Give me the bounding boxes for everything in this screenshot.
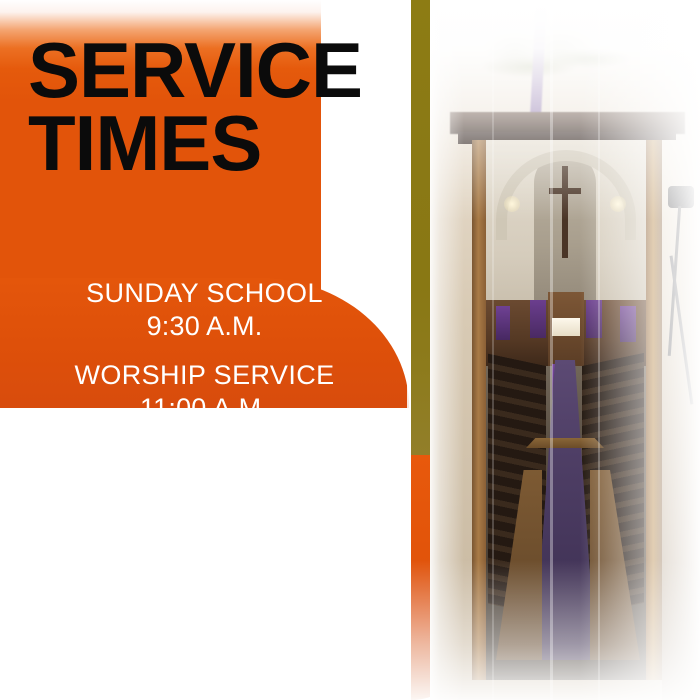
open-bible — [552, 318, 580, 336]
photo-right-wall — [662, 140, 700, 700]
service-detail: (Every 5th Sunday) — [0, 557, 409, 589]
door-header-beam — [450, 112, 685, 134]
cross-icon — [562, 166, 568, 258]
service-entry-sunday-school: SUNDAY SCHOOL 9:30 A.M. — [0, 278, 409, 342]
page-title: SERVICE TIMES — [28, 34, 408, 181]
headline-line-1: SERVICE — [28, 34, 408, 107]
video-camera — [668, 186, 694, 208]
church-sanctuary-photo — [430, 0, 700, 700]
service-time: 2nd Sunday — [0, 474, 409, 506]
cross-icon-crossbar — [549, 188, 581, 194]
service-entry-holy-communion: HOLY COMMUNION 2nd Sunday — [0, 443, 409, 507]
service-name: SUNDAY SCHOOL — [0, 278, 409, 310]
olive-accent-bar — [411, 0, 430, 458]
service-time: 10:00 A.M. — [0, 589, 409, 621]
service-entry-worship-service: WORSHIP SERVICE 11:00 A.M. — [0, 360, 409, 424]
purple-parament-right-outer — [620, 306, 636, 342]
glass-reflection-3 — [598, 0, 600, 700]
door-jamb-right — [646, 140, 662, 680]
service-name: CASUAL SUNDAY — [0, 525, 409, 557]
service-times-list: SUNDAY SCHOOL 9:30 A.M. WORSHIP SERVICE … — [0, 278, 409, 621]
glass-reflection-2 — [550, 0, 553, 700]
wall-sconce-left — [504, 196, 520, 212]
service-name: WORSHIP SERVICE — [0, 360, 409, 392]
glass-reflection-1 — [492, 0, 494, 700]
service-times-poster: SERVICE TIMES SUNDAY SCHOOL 9:30 A.M. WO… — [0, 0, 700, 700]
headline-line-2: TIMES — [28, 107, 408, 180]
service-name: HOLY COMMUNION — [0, 443, 409, 475]
purple-parament-left — [530, 300, 546, 338]
aisle-step — [526, 438, 604, 448]
service-entry-casual-sunday: CASUAL SUNDAY (Every 5th Sunday) 10:00 A… — [0, 525, 409, 622]
door-jamb-left — [472, 140, 486, 680]
wall-sconce-right — [610, 196, 626, 212]
service-time: 9:30 A.M. — [0, 310, 409, 342]
service-time: 11:00 A.M. — [0, 392, 409, 424]
palm-branches-decor — [470, 8, 650, 128]
purple-parament-left-outer — [496, 306, 510, 340]
